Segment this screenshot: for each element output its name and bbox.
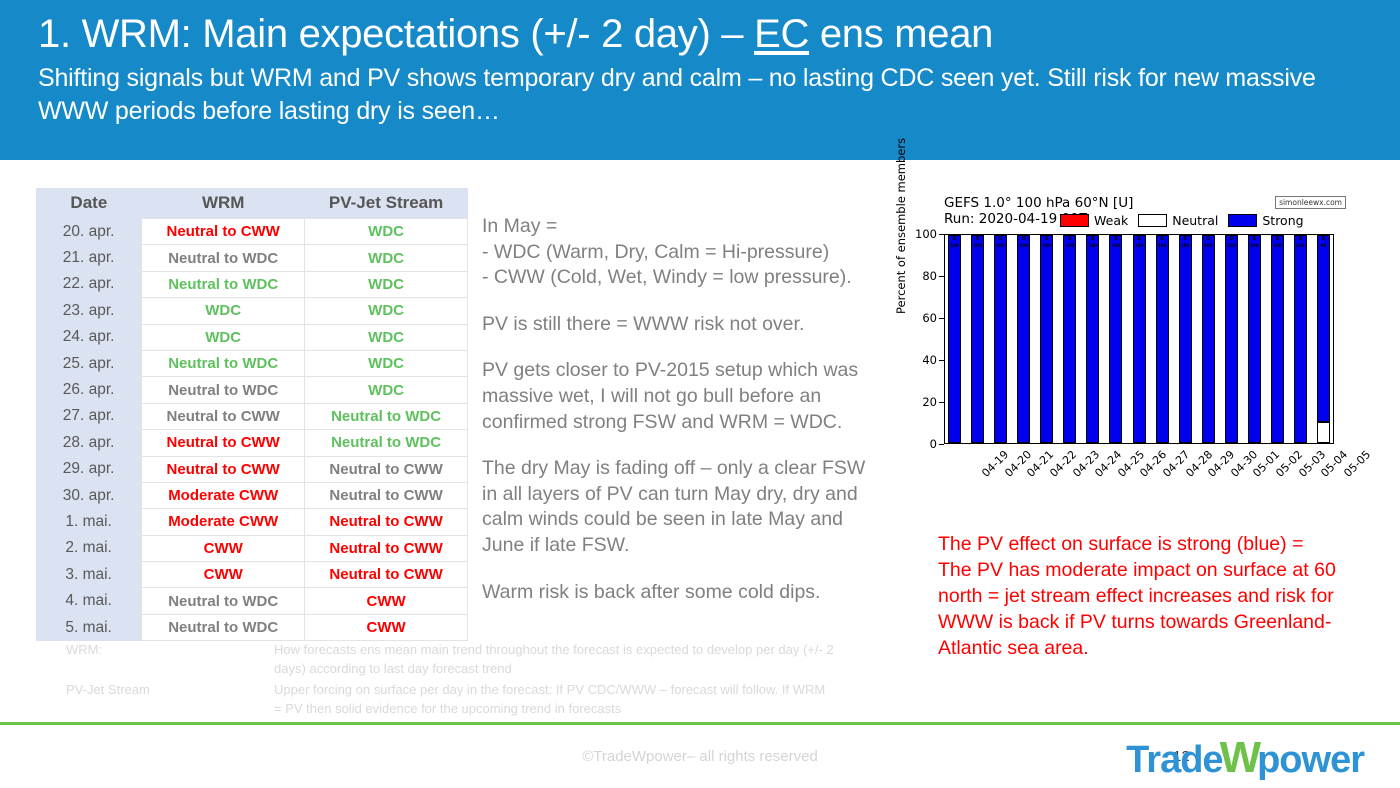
table-row: 4. mai.Neutral to WDCCWW: [36, 588, 468, 614]
chart-bar: S100: [1202, 235, 1215, 443]
bar-segment-strong: [1179, 235, 1192, 443]
chart-bar: S100: [1294, 235, 1307, 443]
cell-pv-jet: CWW: [305, 588, 468, 614]
chart-bar: S100: [1156, 235, 1169, 443]
legend-label-weak: Weak: [1094, 213, 1128, 228]
column-header-date: Date: [36, 188, 142, 219]
cell-pv-jet: Neutral to WDC: [305, 430, 468, 456]
commentary-paragraph-warm-risk: Warm risk is back after some cold dips.: [482, 580, 882, 606]
table-row: 2. mai.CWWNeutral to CWW: [36, 535, 468, 561]
title-underlined-ec: EC: [754, 12, 809, 56]
cell-wrm: CWW: [142, 535, 305, 561]
legend-item-strong: Strong: [1228, 213, 1303, 228]
legend-swatch-neutral: [1138, 214, 1167, 227]
chart-y-tick: 40: [900, 353, 944, 367]
table-row: 5. mai.Neutral to WDCCWW: [36, 614, 468, 640]
chart-bar: S90: [1317, 235, 1330, 443]
cell-wrm: Moderate CWW: [142, 482, 305, 508]
cell-pv-jet: WDC: [305, 377, 468, 403]
bar-segment-strong: [1202, 235, 1215, 443]
chart-bar: S100: [1063, 235, 1076, 443]
table-row: 23. apr.WDCWDC: [36, 298, 468, 324]
cell-wrm: WDC: [142, 324, 305, 350]
cell-pv-jet: WDC: [305, 350, 468, 376]
commentary-text-block: In May = - WDC (Warm, Dry, Calm = Hi-pre…: [482, 214, 882, 605]
bar-segment-strong: [1225, 235, 1238, 443]
logo-text-trade: Trade: [1126, 739, 1222, 782]
cell-wrm: WDC: [142, 298, 305, 324]
bar-segment-strong: [1086, 235, 1099, 443]
bar-segment-strong: [1109, 235, 1122, 443]
gefs-stacked-bar-chart: GEFS 1.0° 100 hPa 60°N [U] Run: 2020-04-…: [900, 196, 1348, 506]
cell-pv-jet: Neutral to WDC: [305, 403, 468, 429]
chart-bar: S100: [1248, 235, 1261, 443]
legend-swatch-weak: [1060, 214, 1089, 227]
cell-pv-jet: WDC: [305, 271, 468, 297]
bar-segment-strong: [994, 235, 1007, 443]
chart-bar: S100: [1133, 235, 1146, 443]
cell-date: 20. apr.: [36, 219, 142, 245]
cell-date: 27. apr.: [36, 403, 142, 429]
page-title: 1. WRM: Main expectations (+/- 2 day) – …: [38, 8, 1370, 60]
table-row: 28. apr.Neutral to CWWNeutral to WDC: [36, 430, 468, 456]
column-header-wrm: WRM: [142, 188, 305, 219]
chart-bar: S100: [1225, 235, 1238, 443]
cell-wrm: Neutral to WDC: [142, 614, 305, 640]
tradewpower-logo: TradeWpower: [1126, 735, 1364, 785]
chart-bar: S100: [994, 235, 1007, 443]
footer-divider: [0, 722, 1400, 725]
cell-pv-jet: CWW: [305, 614, 468, 640]
bar-segment-strong: [1248, 235, 1261, 443]
cell-date: 24. apr.: [36, 324, 142, 350]
cell-wrm: Neutral to WDC: [142, 350, 305, 376]
cell-pv-jet: Neutral to CWW: [305, 535, 468, 561]
wrm-forecast-table: Date WRM PV-Jet Stream 20. apr.Neutral t…: [36, 188, 468, 641]
bar-segment-strong: [971, 235, 984, 443]
chart-bar: S100: [971, 235, 984, 443]
chart-bar: S100: [1017, 235, 1030, 443]
cell-date: 1. mai.: [36, 509, 142, 535]
footnote-key: PV-Jet Stream: [66, 680, 274, 718]
bar-segment-neutral: [1317, 422, 1330, 443]
bar-segment-strong: [1133, 235, 1146, 443]
cell-wrm: Moderate CWW: [142, 509, 305, 535]
chart-bar: S100: [1179, 235, 1192, 443]
legend-item-weak: Weak: [1060, 213, 1128, 228]
table-row: 26. apr.Neutral to WDCWDC: [36, 377, 468, 403]
cell-pv-jet: WDC: [305, 245, 468, 271]
legend-item-neutral: Neutral: [1138, 213, 1218, 228]
bar-segment-strong: [1063, 235, 1076, 443]
legend-label-neutral: Neutral: [1172, 213, 1218, 228]
chart-bar: S100: [1040, 235, 1053, 443]
table-row: 21. apr.Neutral to WDCWDC: [36, 245, 468, 271]
cell-pv-jet: WDC: [305, 324, 468, 350]
chart-bar: S100: [948, 235, 961, 443]
cell-wrm: Neutral to WDC: [142, 271, 305, 297]
cell-pv-jet: Neutral to CWW: [305, 456, 468, 482]
bar-segment-strong: [1294, 235, 1307, 443]
column-header-pvjet: PV-Jet Stream: [305, 188, 468, 219]
footnote-row: PV-Jet StreamUpper forcing on surface pe…: [66, 680, 836, 718]
table-row: 30. apr.Moderate CWWNeutral to CWW: [36, 482, 468, 508]
table-row: 25. apr.Neutral to WDCWDC: [36, 350, 468, 376]
cell-date: 21. apr.: [36, 245, 142, 271]
cell-date: 22. apr.: [36, 271, 142, 297]
bar-segment-strong: [1017, 235, 1030, 443]
cell-wrm: Neutral to CWW: [142, 456, 305, 482]
table-row: 24. apr.WDCWDC: [36, 324, 468, 350]
cell-date: 28. apr.: [36, 430, 142, 456]
commentary-paragraph-dry-may: The dry May is fading off – only a clear…: [482, 456, 882, 558]
commentary-paragraph-pv-risk: PV is still there = WWW risk not over.: [482, 312, 882, 338]
footnote-value: Upper forcing on surface per day in the …: [274, 680, 836, 718]
commentary-paragraph-pv2015: PV gets closer to PV-2015 setup which wa…: [482, 358, 882, 435]
chart-bar: S100: [1271, 235, 1284, 443]
table-row: 22. apr.Neutral to WDCWDC: [36, 271, 468, 297]
footnote-key: WRM:: [66, 640, 274, 678]
cell-wrm: Neutral to CWW: [142, 403, 305, 429]
table-row: 3. mai.CWWNeutral to CWW: [36, 562, 468, 588]
table-row: 1. mai.Moderate CWWNeutral to CWW: [36, 509, 468, 535]
cell-date: 26. apr.: [36, 377, 142, 403]
cell-date: 4. mai.: [36, 588, 142, 614]
cell-pv-jet: Neutral to CWW: [305, 482, 468, 508]
legend-swatch-strong: [1228, 214, 1257, 227]
page-subtitle: Shifting signals but WRM and PV shows te…: [38, 62, 1358, 128]
title-text-after: ens mean: [809, 12, 993, 56]
chart-bar: S100: [1109, 235, 1122, 443]
chart-y-axis-label: Percent of ensemble members: [894, 138, 908, 314]
chart-x-axis-ticks: 04-1904-2004-2104-2204-2304-2404-2504-26…: [944, 448, 1334, 504]
bar-segment-strong: [1040, 235, 1053, 443]
cell-date: 23. apr.: [36, 298, 142, 324]
chart-y-tick: 60: [900, 311, 944, 325]
cell-pv-jet: Neutral to CWW: [305, 562, 468, 588]
cell-wrm: Neutral to CWW: [142, 430, 305, 456]
bar-segment-strong: [1271, 235, 1284, 443]
commentary-paragraph-definitions: In May = - WDC (Warm, Dry, Calm = Hi-pre…: [482, 214, 882, 291]
cell-pv-jet: Neutral to CWW: [305, 509, 468, 535]
table-row: 27. apr.Neutral to CWWNeutral to WDC: [36, 403, 468, 429]
chart-y-tick: 20: [900, 395, 944, 409]
slide-header-band: 1. WRM: Main expectations (+/- 2 day) – …: [0, 0, 1400, 160]
cell-date: 5. mai.: [36, 614, 142, 640]
cell-date: 29. apr.: [36, 456, 142, 482]
cell-pv-jet: WDC: [305, 298, 468, 324]
footnote-value: How forecasts ens mean main trend throug…: [274, 640, 836, 678]
watermark-label: simonleewx.com: [1275, 196, 1346, 209]
cell-date: 30. apr.: [36, 482, 142, 508]
chart-y-tick: 0: [900, 437, 944, 451]
table-row: 29. apr.Neutral to CWWNeutral to CWW: [36, 456, 468, 482]
footnote-row: WRM:How forecasts ens mean main trend th…: [66, 640, 836, 678]
chart-bars-container: S100S100S100S100S100S100S100S100S100S100…: [944, 234, 1334, 444]
cell-wrm: Neutral to CWW: [142, 219, 305, 245]
chart-legend: Weak Neutral Strong: [1060, 213, 1350, 228]
title-text-before: 1. WRM: Main expectations (+/- 2 day) –: [38, 12, 754, 56]
cell-date: 25. apr.: [36, 350, 142, 376]
pv-effect-red-note: The PV effect on surface is strong (blue…: [938, 531, 1338, 661]
cell-wrm: Neutral to WDC: [142, 588, 305, 614]
table-footnotes: WRM:How forecasts ens mean main trend th…: [66, 640, 836, 720]
cell-pv-jet: WDC: [305, 219, 468, 245]
chart-bar: S100: [1086, 235, 1099, 443]
cell-date: 2. mai.: [36, 535, 142, 561]
table-header-row: Date WRM PV-Jet Stream: [36, 188, 468, 219]
bar-segment-strong: [948, 235, 961, 443]
table-row: 20. apr.Neutral to CWWWDC: [36, 219, 468, 245]
cell-wrm: Neutral to WDC: [142, 245, 305, 271]
logo-text-power: power: [1257, 739, 1364, 782]
bar-segment-strong: [1156, 235, 1169, 443]
cell-wrm: CWW: [142, 562, 305, 588]
bar-segment-strong: [1317, 235, 1330, 422]
chart-plot-area: S100S100S100S100S100S100S100S100S100S100…: [944, 234, 1334, 444]
chart-y-tick: 80: [900, 269, 944, 283]
cell-date: 3. mai.: [36, 562, 142, 588]
chart-y-tick: 100: [900, 227, 944, 241]
logo-w-mark-icon: W: [1220, 733, 1261, 783]
legend-label-strong: Strong: [1262, 213, 1303, 228]
cell-wrm: Neutral to WDC: [142, 377, 305, 403]
